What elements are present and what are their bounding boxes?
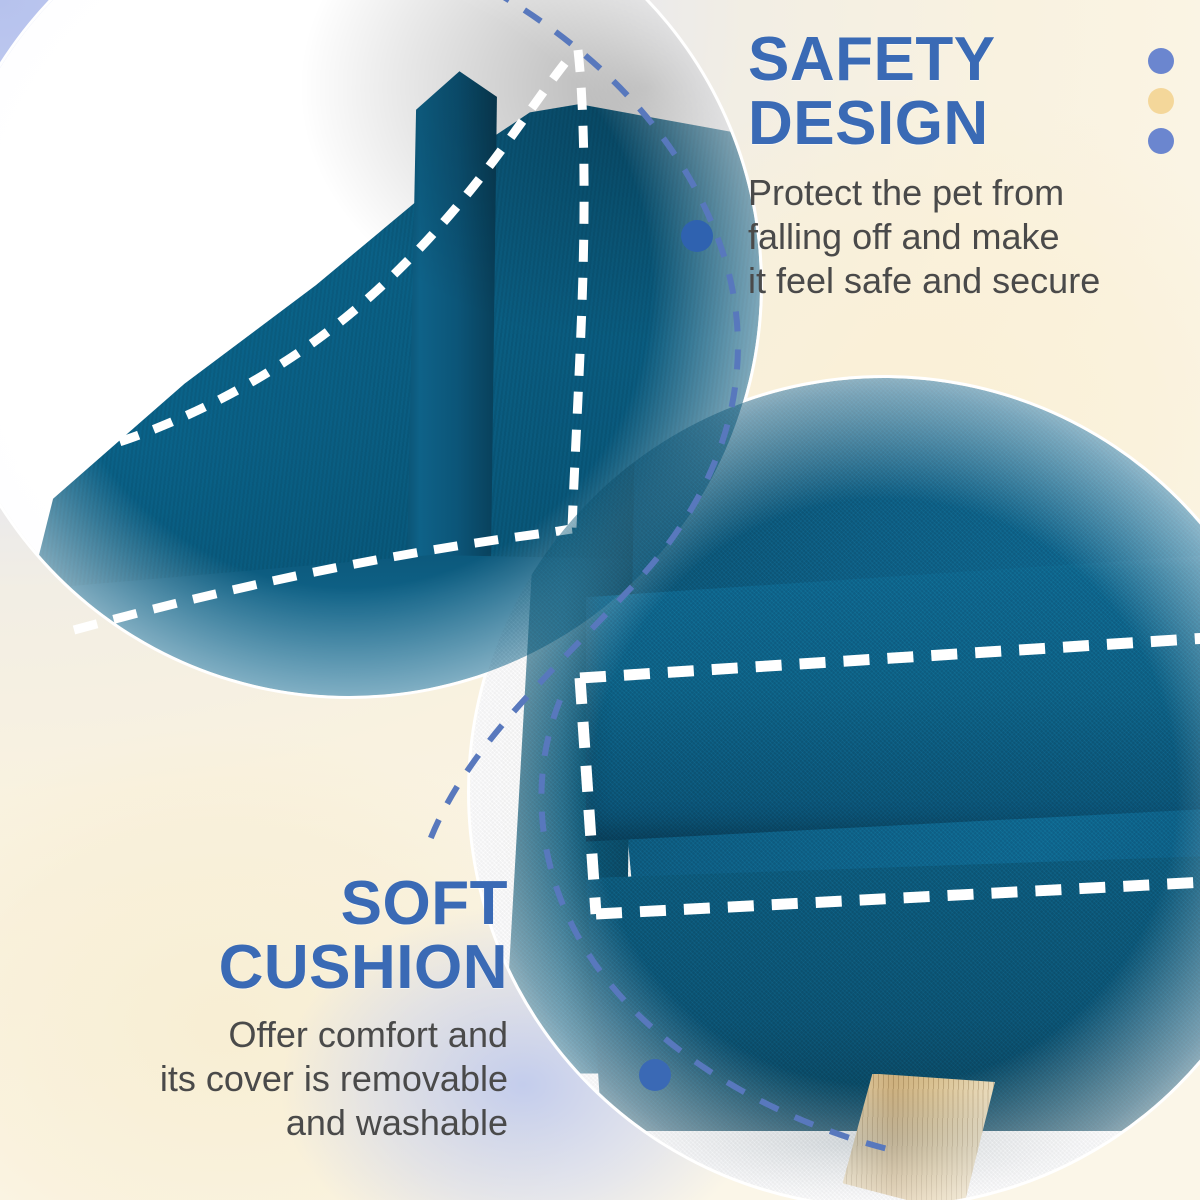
soft-cushion-description-line1: Offer comfort and: [0, 1013, 508, 1057]
safety-design-heading-line2: DESIGN: [748, 92, 1200, 156]
safety-design-description-line1: Protect the pet from: [748, 171, 1200, 215]
feature-block-safety-design: SAFETY DESIGN Protect the pet from falli…: [748, 28, 1200, 303]
sofa-illustration-cushion: [470, 378, 1200, 1200]
product-photo-soft-cushion: [470, 378, 1200, 1200]
soft-cushion-heading-line2: CUSHION: [0, 936, 508, 1000]
floor-shadow: [553, 1090, 1200, 1200]
soft-cushion-description: Offer comfort and its cover is removable…: [0, 1013, 508, 1145]
velvet-texture: [470, 378, 1200, 1200]
feature-block-soft-cushion: SOFT CUSHION Offer comfort and its cover…: [0, 872, 508, 1145]
safety-design-heading-line1: SAFETY: [748, 25, 996, 94]
safety-design-description: Protect the pet from falling off and mak…: [748, 171, 1200, 303]
soft-cushion-heading-line1: SOFT: [341, 869, 508, 938]
safety-design-heading: SAFETY DESIGN: [748, 28, 1200, 157]
soft-cushion-description-line2: its cover is removable: [0, 1057, 508, 1101]
safety-design-description-line2: falling off and make: [748, 215, 1200, 259]
infographic-canvas: SAFETY DESIGN Protect the pet from falli…: [0, 0, 1200, 1200]
soft-cushion-description-line3: and washable: [0, 1101, 508, 1145]
soft-cushion-heading: SOFT CUSHION: [0, 872, 508, 1001]
safety-design-description-line3: it feel safe and secure: [748, 259, 1200, 303]
